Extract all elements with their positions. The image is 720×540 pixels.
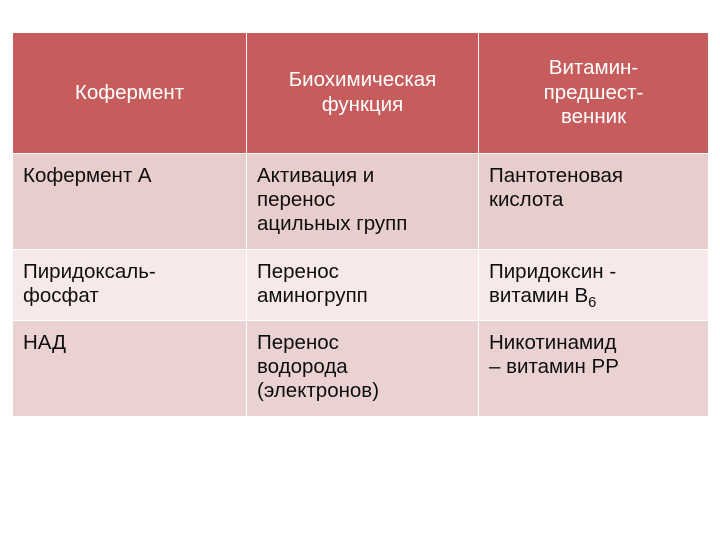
table-row: Кофермент А Активация и перенос ацильных… — [13, 154, 709, 250]
cell-vitamin-text: Пиридоксин - витамин В — [489, 260, 616, 307]
cell-vitamin-subscript: 6 — [588, 295, 596, 311]
cell-vitamin: Никотинамид – витамин РР — [479, 320, 709, 416]
column-header-vitamin: Витамин- предшест- венник — [479, 33, 709, 154]
column-header-coenzyme: Кофермент — [13, 33, 247, 154]
cell-function: Перенос водорода (электронов) — [247, 320, 479, 416]
slide: Кофермент Биохимическая функция Витамин-… — [0, 0, 720, 540]
cell-coenzyme: НАД — [13, 320, 247, 416]
table-row: НАД Перенос водорода (электронов) Никоти… — [13, 320, 709, 416]
table-body: Кофермент А Активация и перенос ацильных… — [13, 154, 709, 417]
cell-vitamin-text: Пантотеновая кислота — [489, 164, 623, 211]
cell-vitamin-text: Никотинамид – витамин РР — [489, 331, 619, 378]
cell-function: Перенос аминогрупп — [247, 249, 479, 320]
table-header-row: Кофермент Биохимическая функция Витамин-… — [13, 33, 709, 154]
cell-coenzyme: Кофермент А — [13, 154, 247, 250]
cell-vitamin: Пиридоксин - витамин В6 — [479, 249, 709, 320]
table-row: Пиридоксаль- фосфат Перенос аминогрупп П… — [13, 249, 709, 320]
cell-coenzyme: Пиридоксаль- фосфат — [13, 249, 247, 320]
table-header: Кофермент Биохимическая функция Витамин-… — [13, 33, 709, 154]
cell-function: Активация и перенос ацильных групп — [247, 154, 479, 250]
coenzyme-table: Кофермент Биохимическая функция Витамин-… — [12, 32, 709, 417]
cell-vitamin: Пантотеновая кислота — [479, 154, 709, 250]
column-header-function: Биохимическая функция — [247, 33, 479, 154]
